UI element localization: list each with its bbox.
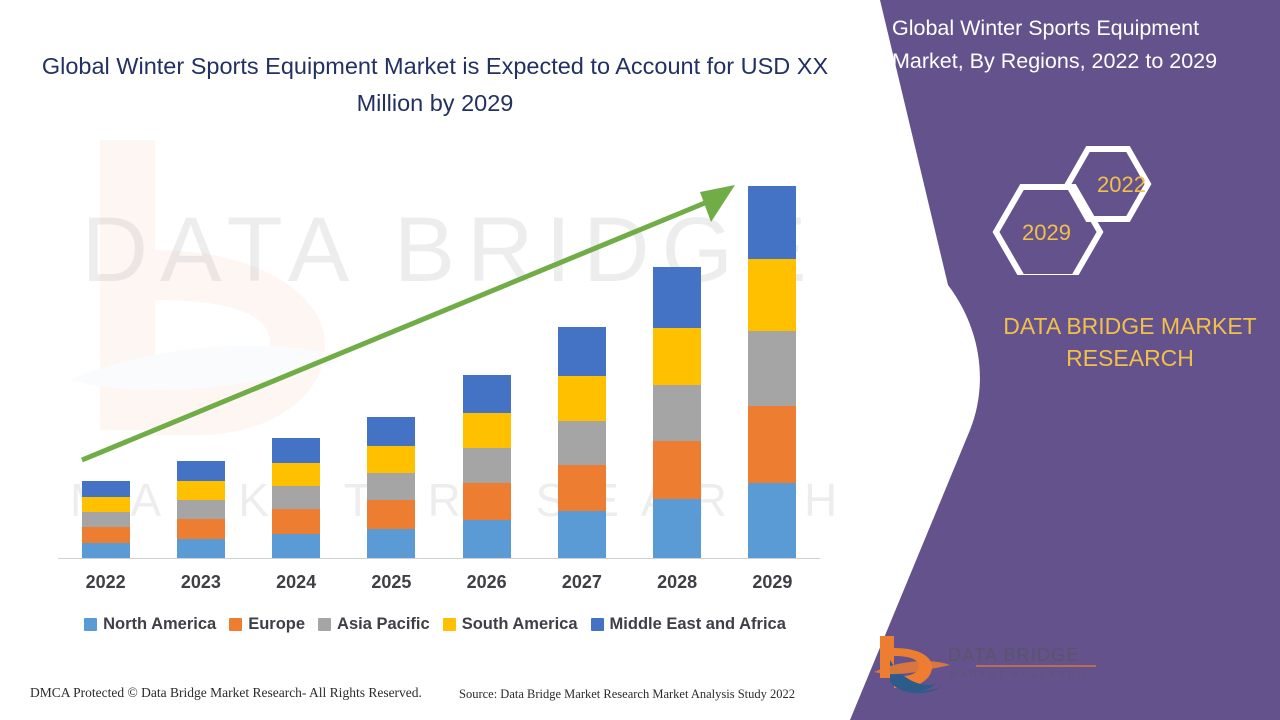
- legend-swatch-icon: [591, 618, 604, 631]
- bar-2027[interactable]: [558, 327, 606, 559]
- footer-source: Source: Data Bridge Market Research Mark…: [459, 687, 795, 702]
- bar-segment: [653, 441, 701, 499]
- bar-segment: [367, 500, 415, 529]
- bar-segment: [558, 421, 606, 465]
- x-axis-label-2022: 2022: [61, 572, 151, 593]
- bar-segment: [748, 483, 796, 559]
- infographic-slide: DATA BRIDGE MARKET RESEARCH Global Winte…: [0, 0, 1280, 720]
- footer-dmca: DMCA Protected © Data Bridge Market Rese…: [30, 685, 422, 701]
- brand-name: DATA BRIDGE MARKET RESEARCH: [985, 310, 1275, 374]
- legend-swatch-icon: [84, 618, 97, 631]
- bar-segment: [653, 385, 701, 441]
- bar-segment: [177, 539, 225, 559]
- bar-segment: [272, 509, 320, 534]
- legend-swatch-icon: [229, 618, 242, 631]
- legend-item[interactable]: South America: [443, 615, 578, 634]
- bar-segment: [463, 448, 511, 483]
- bar-segment: [748, 331, 796, 406]
- bar-segment: [558, 465, 606, 511]
- bar-segment: [177, 481, 225, 500]
- bar-segment: [463, 520, 511, 559]
- x-axis-label-2024: 2024: [251, 572, 341, 593]
- legend-label: South America: [462, 615, 578, 634]
- chart-title: Global Winter Sports Equipment Market is…: [40, 48, 830, 122]
- x-axis-label-2028: 2028: [632, 572, 722, 593]
- legend-item[interactable]: Middle East and Africa: [591, 615, 786, 634]
- bar-segment: [463, 483, 511, 520]
- bar-segment: [558, 511, 606, 559]
- bar-2028[interactable]: [653, 267, 701, 559]
- bar-segment: [82, 512, 130, 527]
- bar-segment: [748, 186, 796, 259]
- bar-segment: [558, 327, 606, 376]
- bar-segment: [367, 446, 415, 473]
- bar-2026[interactable]: [463, 375, 511, 559]
- logo-subtext: MARKET RESEARCH: [950, 669, 1088, 679]
- bar-2024[interactable]: [272, 438, 320, 559]
- hex-label-2029: 2029: [1022, 220, 1071, 246]
- bar-segment: [82, 497, 130, 512]
- bar-2022[interactable]: [82, 481, 130, 559]
- bar-segment: [82, 527, 130, 543]
- x-axis-label-2029: 2029: [727, 572, 817, 593]
- legend-swatch-icon: [318, 618, 331, 631]
- x-axis-label-2027: 2027: [537, 572, 627, 593]
- x-axis-label-2025: 2025: [346, 572, 436, 593]
- hex-label-2022: 2022: [1097, 172, 1146, 198]
- bar-2025[interactable]: [367, 417, 415, 559]
- x-axis-labels: 20222023202420252026202720282029: [58, 572, 820, 602]
- bar-segment: [272, 463, 320, 486]
- logo-wordmark: DATA BRIDGE: [948, 645, 1080, 666]
- legend-swatch-icon: [443, 618, 456, 631]
- chart-legend: North AmericaEuropeAsia PacificSouth Ame…: [40, 615, 830, 634]
- bar-segment: [463, 413, 511, 448]
- legend-label: North America: [103, 615, 216, 634]
- plot-area: [58, 170, 820, 559]
- bar-segment: [463, 375, 511, 413]
- legend-label: Middle East and Africa: [610, 615, 786, 634]
- bar-segment: [653, 267, 701, 328]
- x-axis-line: [58, 558, 820, 559]
- bar-segment: [177, 519, 225, 539]
- bar-segment: [653, 499, 701, 559]
- bar-segment: [558, 376, 606, 421]
- bar-segment: [748, 259, 796, 331]
- bar-segment: [367, 529, 415, 559]
- panel-title: Global Winter Sports Equipment Market, B…: [892, 12, 1264, 78]
- hexagon-badges: [980, 145, 1180, 275]
- legend-item[interactable]: Europe: [229, 615, 305, 634]
- bar-segment: [367, 417, 415, 446]
- bar-segment: [82, 481, 130, 497]
- bar-segment: [748, 406, 796, 483]
- bar-2023[interactable]: [177, 461, 225, 559]
- x-axis-label-2026: 2026: [442, 572, 532, 593]
- bar-2029[interactable]: [748, 186, 796, 559]
- bar-segment: [272, 486, 320, 509]
- bar-segment: [653, 328, 701, 385]
- bar-segment: [367, 473, 415, 500]
- legend-item[interactable]: Asia Pacific: [318, 615, 430, 634]
- bar-segment: [272, 534, 320, 559]
- x-axis-label-2023: 2023: [156, 572, 246, 593]
- bar-segment: [82, 543, 130, 559]
- legend-label: Asia Pacific: [337, 615, 430, 634]
- bar-segment: [272, 438, 320, 463]
- bar-segment: [177, 500, 225, 519]
- legend-label: Europe: [248, 615, 305, 634]
- bar-segment: [177, 461, 225, 481]
- legend-item[interactable]: North America: [84, 615, 216, 634]
